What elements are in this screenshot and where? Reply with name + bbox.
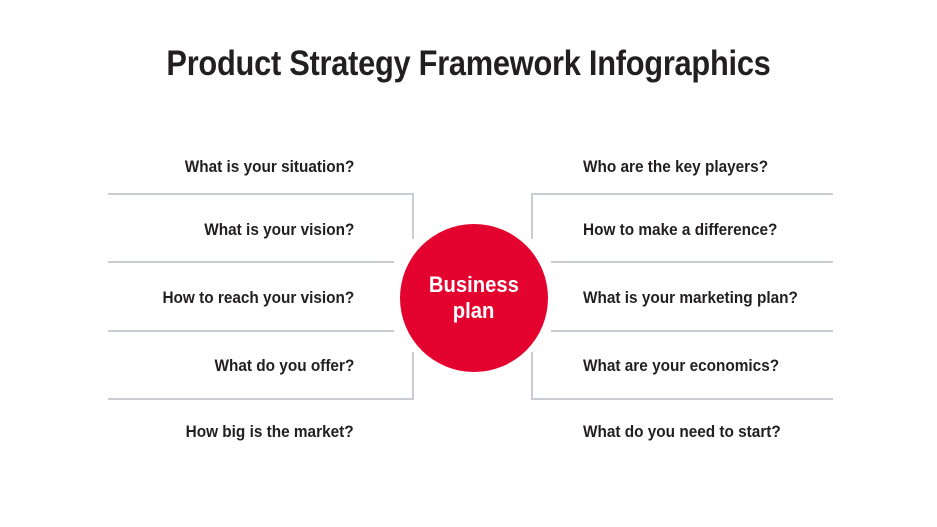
- center-hub-circle[interactable]: Business plan: [400, 224, 548, 372]
- infographic-canvas: Product Strategy Framework Infographics …: [0, 0, 937, 527]
- left-item-reach-vision[interactable]: How to reach your vision?: [162, 290, 354, 307]
- connector-elbow-left-top: [412, 193, 414, 239]
- left-item-vision[interactable]: What is your vision?: [204, 222, 354, 239]
- left-item-situation[interactable]: What is your situation?: [184, 159, 354, 176]
- right-item-key-players[interactable]: Who are the key players?: [583, 159, 768, 176]
- right-item-need-to-start[interactable]: What do you need to start?: [583, 424, 781, 441]
- connector-elbow-right-top: [531, 193, 533, 239]
- hub-label-line-2: plan: [453, 298, 495, 324]
- left-question-column: What is your situation? What is your vis…: [54, 0, 354, 527]
- left-item-offer[interactable]: What do you offer?: [214, 358, 354, 375]
- right-item-economics[interactable]: What are your economics?: [583, 358, 779, 375]
- connector-elbow-right-bottom: [531, 352, 533, 400]
- right-item-difference[interactable]: How to make a difference?: [583, 222, 777, 239]
- left-item-market-size[interactable]: How big is the market?: [186, 424, 354, 441]
- right-question-column: Who are the key players? How to make a d…: [583, 0, 883, 527]
- right-item-marketing-plan[interactable]: What is your marketing plan?: [583, 290, 798, 307]
- connector-elbow-left-bottom: [412, 352, 414, 400]
- hub-label-line-1: Business: [429, 272, 519, 298]
